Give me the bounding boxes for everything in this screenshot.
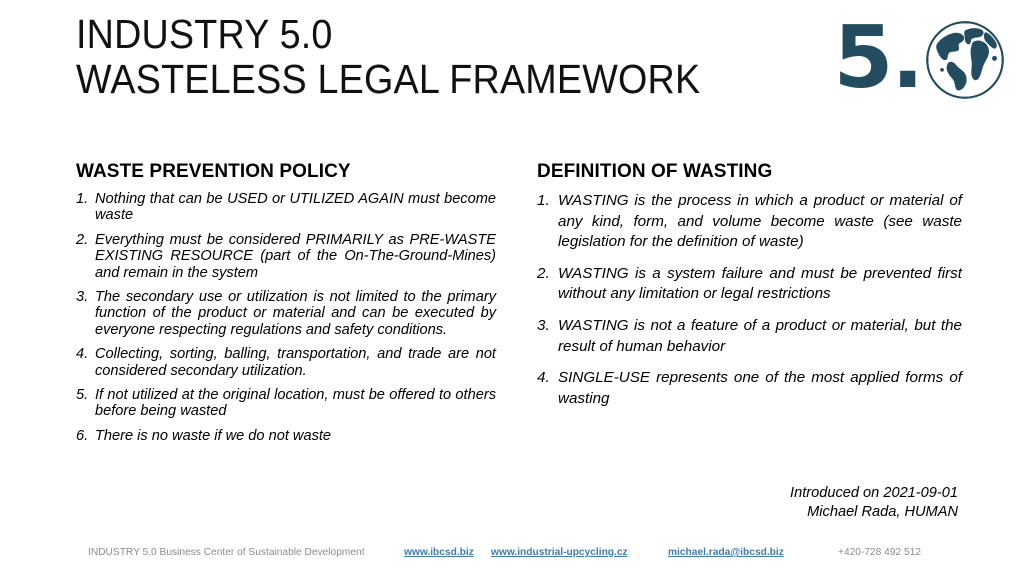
title-line-2: WASTELESS LEGAL FRAMEWORK [76, 57, 738, 102]
definition-of-wasting-list: 1. WASTING is the process in which a pro… [537, 191, 962, 409]
list-item-text: WASTING is a system failure and must be … [558, 264, 962, 305]
logo-five-text: 5. [833, 15, 922, 101]
list-item-number: 4. [76, 346, 88, 362]
footer-email-link[interactable]: michael.rada@ibcsd.biz [668, 545, 784, 561]
slide-header: INDUSTRY 5.0 WASTELESS LEGAL FRAMEWORK 5… [0, 0, 1024, 125]
footer-phone: +420-728 492 512 [838, 545, 921, 561]
column-definition-of-wasting: DEFINITION OF WASTING 1. WASTING is the … [537, 160, 962, 420]
column-waste-prevention-policy: WASTE PREVENTION POLICY 1. Nothing that … [76, 160, 496, 452]
list-item: 2. Everything must be considered PRIMARI… [76, 232, 496, 281]
list-item-text: Collecting, sorting, balling, transporta… [95, 346, 496, 379]
footer-organization: INDUSTRY 5.0 Business Center of Sustaina… [88, 545, 365, 561]
list-item-number: 2. [76, 232, 88, 248]
list-item-text: SINGLE-USE represents one of the most ap… [558, 368, 962, 409]
list-item: 1. Nothing that can be USED or UTILIZED … [76, 191, 496, 224]
list-item-number: 4. [537, 368, 550, 389]
signature-block: Introduced on 2021-09-01 Michael Rada, H… [538, 484, 958, 522]
footer-link-ibcsd[interactable]: www.ibcsd.biz [404, 545, 474, 561]
list-item-number: 6. [76, 428, 88, 444]
list-item-text: There is no waste if we do not waste [95, 428, 496, 444]
list-item-number: 3. [537, 316, 550, 337]
list-item-number: 1. [537, 191, 550, 212]
list-item: 3. WASTING is not a feature of a product… [537, 316, 962, 357]
list-item-text: Everything must be considered PRIMARILY … [95, 232, 496, 281]
globe-icon [924, 19, 1006, 101]
list-item-number: 2. [537, 264, 550, 285]
industry-50-logo: 5. [826, 10, 1006, 110]
list-item-number: 1. [76, 191, 88, 207]
list-item: 4. SINGLE-USE represents one of the most… [537, 368, 962, 409]
list-item: 3. The secondary use or utilization is n… [76, 289, 496, 338]
right-column-heading: DEFINITION OF WASTING [537, 160, 962, 183]
list-item: 2. WASTING is a system failure and must … [537, 264, 962, 305]
waste-prevention-policy-list: 1. Nothing that can be USED or UTILIZED … [76, 191, 496, 444]
slide-footer: INDUSTRY 5.0 Business Center of Sustaina… [0, 545, 1024, 567]
list-item-text: WASTING is the process in which a produc… [558, 191, 962, 253]
content-columns: WASTE PREVENTION POLICY 1. Nothing that … [0, 160, 1024, 490]
author-name: Michael Rada, HUMAN [538, 503, 958, 522]
list-item: 5. If not utilized at the original locat… [76, 387, 496, 420]
list-item-number: 5. [76, 387, 88, 403]
page-title: INDUSTRY 5.0 WASTELESS LEGAL FRAMEWORK [76, 12, 796, 102]
introduced-date: Introduced on 2021-09-01 [538, 484, 958, 503]
footer-link-industrial-upcycling[interactable]: www.industrial-upcycling.cz [491, 545, 628, 561]
list-item: 4. Collecting, sorting, balling, transpo… [76, 346, 496, 379]
left-column-heading: WASTE PREVENTION POLICY [76, 160, 496, 183]
list-item: 6. There is no waste if we do not waste [76, 428, 496, 444]
title-line-1: INDUSTRY 5.0 [76, 12, 738, 57]
list-item-text: The secondary use or utilization is not … [95, 289, 496, 338]
list-item-text: Nothing that can be USED or UTILIZED AGA… [95, 191, 496, 224]
list-item-text: If not utilized at the original location… [95, 387, 496, 420]
list-item: 1. WASTING is the process in which a pro… [537, 191, 962, 253]
list-item-number: 3. [76, 289, 88, 305]
list-item-text: WASTING is not a feature of a product or… [558, 316, 962, 357]
